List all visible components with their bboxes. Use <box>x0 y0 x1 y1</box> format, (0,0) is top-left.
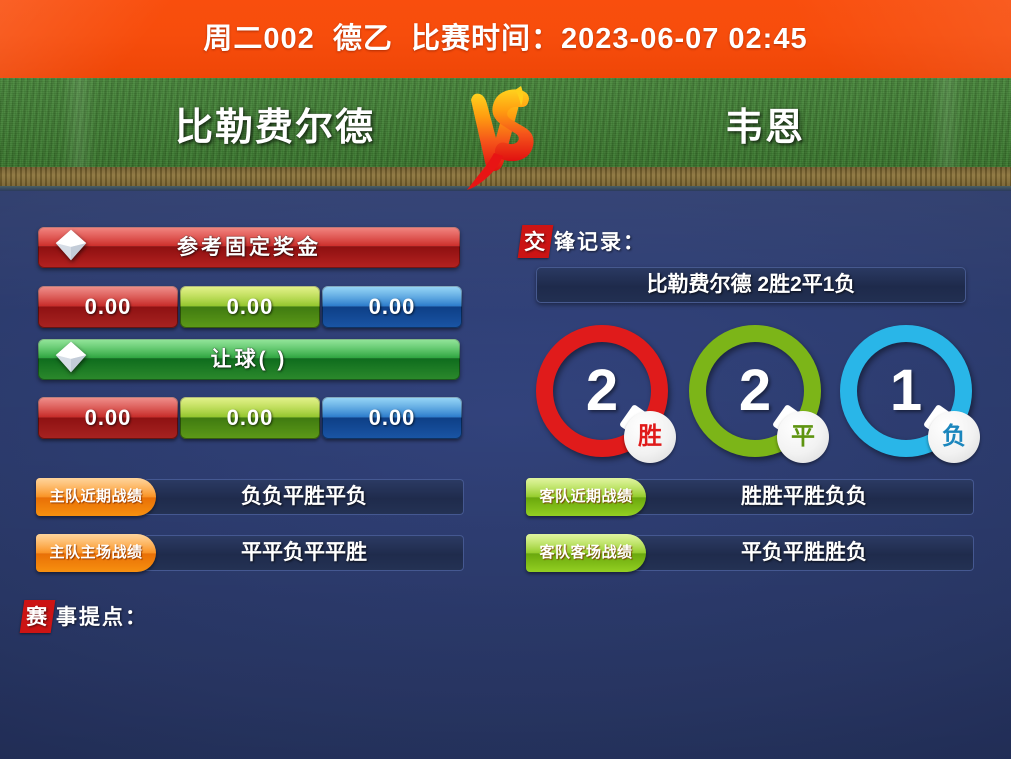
odds-home-win[interactable]: 0.00 <box>38 286 178 328</box>
home-home-form-tag: 主队主场战绩 <box>36 534 156 572</box>
odds-away-win[interactable]: 0.00 <box>322 286 462 328</box>
handicap-odds-row: 0.00 0.00 0.00 <box>0 397 500 439</box>
h2h-ring-lose: 1 负 <box>840 325 972 457</box>
away-away-form-tag: 客队客场战绩 <box>526 534 646 572</box>
diamond-icon <box>52 226 90 264</box>
h2h-ring-win: 2 胜 <box>536 325 668 457</box>
vs-flame-icon <box>455 78 555 190</box>
home-recent-form-row: 负负平胜平负 主队近期战绩 <box>36 478 466 516</box>
away-recent-form-tag: 客队近期战绩 <box>526 478 646 516</box>
handicap-draw[interactable]: 0.00 <box>180 397 320 439</box>
diamond-icon <box>52 338 90 376</box>
notes-title: 赛事提点： <box>22 600 148 628</box>
home-team-name: 比勒费尔德 <box>120 96 430 151</box>
odds-column: 参考固定奖金 0.00 0.00 0.00 让球( <box>0 191 500 759</box>
h2h-column: 交锋记录： 比勒费尔德 2胜2平1负 2 胜 2 平 <box>500 191 1011 759</box>
ring-badge-draw: 平 <box>777 411 829 463</box>
ring-badge-lose: 负 <box>928 411 980 463</box>
home-recent-form-value-box: 负负平胜平负 <box>144 479 464 515</box>
notes-title-glyph: 赛 <box>20 600 56 633</box>
ring-badge-win: 胜 <box>624 411 676 463</box>
content-area: 参考固定奖金 0.00 0.00 0.00 让球( <box>0 191 1011 759</box>
header-bar: 周二002 德乙 比赛时间：2023-06-07 02:45 <box>0 0 1011 78</box>
h2h-title: 交锋记录： <box>520 225 646 253</box>
away-team-name: 韦恩 <box>610 96 920 151</box>
away-recent-form-value-box: 胜胜平胜负负 <box>634 479 974 515</box>
handicap-away-win[interactable]: 0.00 <box>322 397 462 439</box>
fixed-bonus-header: 参考固定奖金 <box>38 227 460 268</box>
handicap-home-win[interactable]: 0.00 <box>38 397 178 439</box>
handicap-header: 让球( ) <box>38 339 460 380</box>
h2h-title-glyph: 交 <box>518 225 554 258</box>
h2h-summary-panel: 比勒费尔德 2胜2平1负 <box>536 267 966 303</box>
h2h-ring-draw: 2 平 <box>689 325 821 457</box>
away-away-form-row: 平负平胜胜负 客队客场战绩 <box>526 534 976 572</box>
odds-draw[interactable]: 0.00 <box>180 286 320 328</box>
page-title: 周二002 德乙 比赛时间：2023-06-07 02:45 <box>0 0 1011 78</box>
notes-title-rest: 事提点： <box>56 606 148 629</box>
home-recent-form-tag: 主队近期战绩 <box>36 478 156 516</box>
away-away-form-value-box: 平负平胜胜负 <box>634 535 974 571</box>
home-home-form-row: 平平负平平胜 主队主场战绩 <box>36 534 466 572</box>
match-preview-card: 周二002 德乙 比赛时间：2023-06-07 02:45 比勒费尔德 韦恩 <box>0 0 1011 759</box>
home-home-form-value-box: 平平负平平胜 <box>144 535 464 571</box>
fixed-odds-row: 0.00 0.00 0.00 <box>0 286 500 328</box>
away-recent-form-row: 胜胜平胜负负 客队近期战绩 <box>526 478 976 516</box>
h2h-title-rest: 锋记录： <box>554 231 646 254</box>
